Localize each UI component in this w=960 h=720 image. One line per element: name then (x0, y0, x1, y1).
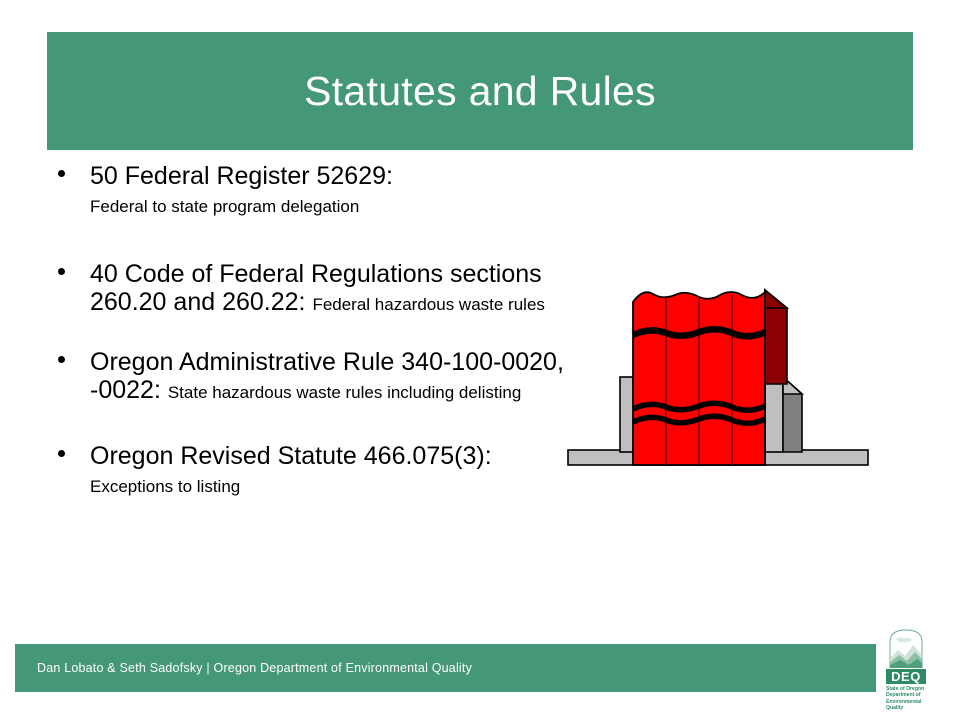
bullet-content: 50 Federal Register 52629: Federal to st… (90, 162, 566, 218)
bullet-content: Oregon Revised Statute 466.075(3): Excep… (90, 442, 566, 498)
bullet-detail: State hazardous waste rules including de… (168, 383, 521, 402)
list-item: Oregon Administrative Rule 340-100-0020,… (46, 348, 566, 404)
bullet-list: 50 Federal Register 52629: Federal to st… (46, 162, 566, 498)
oregon-landscape-icon (886, 628, 926, 668)
deq-agency-name: State of Oregon Department of Environmen… (886, 684, 938, 711)
bullet-detail: Exceptions to listing (90, 477, 240, 496)
bullet-content: 40 Code of Federal Regulations sections … (90, 260, 566, 316)
deq-acronym: DEQ (886, 669, 926, 684)
hazardous-waste-drums-image (565, 272, 875, 472)
page-title: Statutes and Rules (304, 71, 656, 112)
bullet-dot-icon (58, 356, 65, 363)
deq-logo: DEQ State of Oregon Department of Enviro… (884, 628, 940, 714)
bullet-dot-icon (58, 268, 65, 275)
title-banner: Statutes and Rules (47, 32, 913, 150)
list-item: Oregon Revised Statute 466.075(3): Excep… (46, 442, 566, 498)
list-item: 50 Federal Register 52629: Federal to st… (46, 162, 566, 218)
footer-credit: Dan Lobato & Seth Sadofsky | Oregon Depa… (37, 661, 472, 675)
deq-line-4: Quality (886, 705, 938, 711)
bullet-heading: Oregon Revised Statute 466.075(3): (90, 442, 492, 470)
bullet-detail: Federal hazardous waste rules (312, 295, 544, 314)
bullet-dot-icon (58, 170, 65, 177)
bullet-heading: 50 Federal Register 52629: (90, 162, 393, 190)
list-item: 40 Code of Federal Regulations sections … (46, 260, 566, 316)
drum-top-face (765, 290, 787, 308)
bullet-detail: Federal to state program delegation (90, 197, 359, 216)
bullet-content: Oregon Administrative Rule 340-100-0020,… (90, 348, 566, 404)
bullet-dot-icon (58, 450, 65, 457)
slide-canvas: Statutes and Rules 50 Federal Register 5… (0, 0, 960, 720)
